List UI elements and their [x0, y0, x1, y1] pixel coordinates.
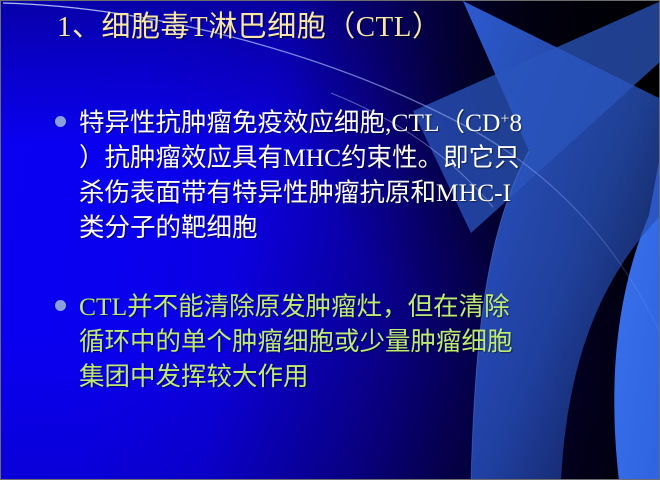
bullet-1-line-4: 类分子的靶细胞 [79, 210, 657, 245]
slide-body: 特异性抗肿瘤免疫效应细胞,CTL（CD+8 ）抗肿瘤效应具有MHC约束性。即它只… [51, 105, 657, 394]
bullet-1-line-1-post: 8 [509, 108, 522, 137]
bullet-1-line-1: 特异性抗肿瘤免疫效应细胞,CTL（CD+8 [79, 105, 657, 140]
bullet-1-line-3: 杀伤表面带有特异性肿瘤抗原和MHC-I [79, 175, 657, 210]
presentation-slide: 1、细胞毒T淋巴细胞（CTL） 特异性抗肿瘤免疫效应细胞,CTL（CD+8 ）抗… [0, 0, 660, 480]
bullet-item-2: CTL并不能清除原发肿瘤灶，但在清除 循环中的单个肿瘤细胞或少量肿瘤细胞 集团中… [51, 289, 657, 394]
bullet-2-text: CTL并不能清除原发肿瘤灶，但在清除 循环中的单个肿瘤细胞或少量肿瘤细胞 集团中… [79, 289, 657, 394]
bullet-2-line-1: CTL并不能清除原发肿瘤灶，但在清除 [79, 289, 657, 324]
slide-title: 1、细胞毒T淋巴细胞（CTL） [57, 9, 647, 45]
bullet-item-1: 特异性抗肿瘤免疫效应细胞,CTL（CD+8 ）抗肿瘤效应具有MHC约束性。即它只… [51, 105, 657, 245]
bullet-1-line-2: ）抗肿瘤效应具有MHC约束性。即它只 [79, 140, 657, 175]
bullet-1-line-1-pre: 特异性抗肿瘤免疫效应细胞,CTL（CD [79, 108, 500, 137]
round-bullet-icon [55, 116, 66, 127]
bullet-2-line-2: 循环中的单个肿瘤细胞或少量肿瘤细胞 [79, 324, 657, 359]
round-bullet-icon [55, 300, 66, 311]
bullet-1-text: 特异性抗肿瘤免疫效应细胞,CTL（CD+8 ）抗肿瘤效应具有MHC约束性。即它只… [79, 105, 657, 245]
bullet-2-line-3: 集团中发挥较大作用 [79, 359, 657, 394]
